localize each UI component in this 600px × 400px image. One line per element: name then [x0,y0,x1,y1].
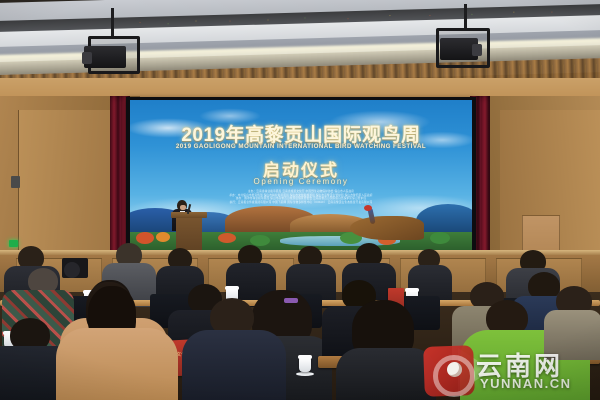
event-subtitle-en: Opening Ceremony [130,177,472,186]
tea-cup-lid [405,288,419,292]
presenter-face [180,205,186,210]
artwork-foliage [430,232,450,244]
ceiling-projector-right [432,4,494,76]
tea-cup-lid [298,355,312,359]
artwork-foliage [250,235,270,246]
auditorium-photo: 2019年高黎贡山国际观鸟周 2019 GAOLIGONG MOUNTAIN I… [0,0,600,400]
projector-mount-rod [464,4,467,30]
person-torso-black-puffer [336,348,436,400]
lidded-tea-cup [299,358,311,372]
projector-lens [472,44,482,56]
hair-clip [284,298,298,303]
person-torso [182,330,286,400]
podium-top [171,212,207,218]
watermark-text-en: YUNNAN.CN [480,376,572,391]
projector-mount-rod [111,8,114,38]
ceiling-projector-left [82,8,142,78]
artwork-foliage [156,232,170,242]
bird-body [350,216,424,240]
watermark: 云南网 YUNNAN.CN [424,342,600,400]
watermark-ball-icon [447,362,462,377]
camera-lens [64,262,80,278]
artwork-pheasant-bird [346,206,424,240]
event-title-en: 2019 GAOLIGONG MOUNTAIN INTERNATIONAL BI… [130,143,472,150]
wall-speaker-icon [11,176,20,188]
projector-lens [82,52,92,64]
person-torso-camel-coat [56,328,178,400]
tea-cup-lid [225,286,239,290]
artwork-foliage [218,233,236,243]
tea-cup-saucer [296,372,314,376]
bird-head [364,205,372,211]
exit-sign-icon [9,240,18,247]
artwork-foliage [136,232,154,244]
